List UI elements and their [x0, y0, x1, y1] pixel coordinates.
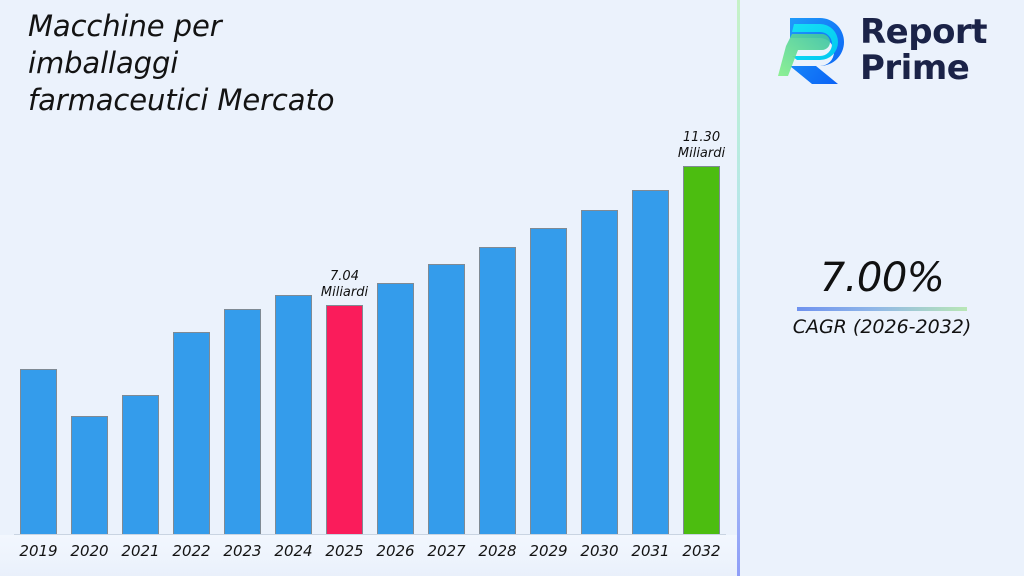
x-tick-2028: 2028 [478, 542, 516, 560]
bar-fill-2029 [530, 228, 567, 534]
brand-name: Report Prime [860, 15, 987, 86]
bar-2019[interactable] [20, 369, 57, 534]
x-tick-2024: 2024 [274, 542, 312, 560]
x-tick-2019: 2019 [19, 542, 57, 560]
bar-2021[interactable] [122, 395, 159, 534]
chart-panel: Macchine per imballaggi farmaceutici Mer… [0, 0, 738, 576]
bar-fill-2030 [581, 210, 618, 534]
x-tick-2022: 2022 [172, 542, 210, 560]
bar-2032[interactable]: 11.30 Miliardi [683, 166, 720, 534]
x-tick-2026: 2026 [376, 542, 414, 560]
info-panel: Report Prime 7.00% CAGR (2026-2032) [740, 0, 1024, 576]
bar-2022[interactable] [173, 332, 210, 534]
cagr-divider-rule [797, 307, 967, 311]
x-axis-labels: 2019202020212022202320242025202620272028… [0, 535, 738, 576]
bar-2030[interactable] [581, 210, 618, 534]
bar-fill-2031 [632, 190, 669, 534]
x-tick-2025: 2025 [325, 542, 363, 560]
brand-logo: Report Prime [776, 12, 987, 90]
bar-fill-2027 [428, 264, 465, 534]
page-title: Macchine per imballaggi farmaceutici Mer… [28, 8, 458, 118]
bar-2028[interactable] [479, 247, 516, 534]
bar-fill-2021 [122, 395, 159, 534]
bar-fill-2024 [275, 295, 312, 534]
bar-fill-2028 [479, 247, 516, 534]
bar-2026[interactable] [377, 283, 414, 534]
x-tick-2023: 2023 [223, 542, 261, 560]
bar-2024[interactable] [275, 295, 312, 534]
x-tick-2030: 2030 [580, 542, 618, 560]
x-tick-2027: 2027 [427, 542, 465, 560]
bar-2029[interactable] [530, 228, 567, 534]
x-tick-2031: 2031 [631, 542, 669, 560]
bar-2023[interactable] [224, 309, 261, 534]
bar-2020[interactable] [71, 416, 108, 534]
bar-fill-2022 [173, 332, 210, 534]
bar-fill-2019 [20, 369, 57, 534]
chart-screenshot: Macchine per imballaggi farmaceutici Mer… [0, 0, 1024, 576]
report-prime-logo-icon [776, 12, 848, 90]
bar-value-label-2032: 11.30 Miliardi [678, 130, 725, 161]
cagr-caption: CAGR (2026-2032) [740, 316, 1024, 338]
bar-2025[interactable]: 7.04 Miliardi [326, 305, 363, 534]
bar-2027[interactable] [428, 264, 465, 534]
x-tick-2021: 2021 [121, 542, 159, 560]
x-tick-2029: 2029 [529, 542, 567, 560]
bar-fill-2020 [71, 416, 108, 534]
cagr-block: 7.00% CAGR (2026-2032) [740, 255, 1024, 338]
bar-value-label-2025: 7.04 Miliardi [321, 269, 368, 300]
bar-fill-2025 [326, 305, 363, 534]
cagr-value: 7.00% [740, 255, 1024, 301]
bar-2031[interactable] [632, 190, 669, 534]
x-tick-2020: 2020 [70, 542, 108, 560]
x-tick-2032: 2032 [682, 542, 720, 560]
plot-area: 7.04 Miliardi11.30 Miliardi [0, 130, 738, 535]
bar-fill-2032 [683, 166, 720, 534]
bar-fill-2026 [377, 283, 414, 534]
bar-fill-2023 [224, 309, 261, 534]
